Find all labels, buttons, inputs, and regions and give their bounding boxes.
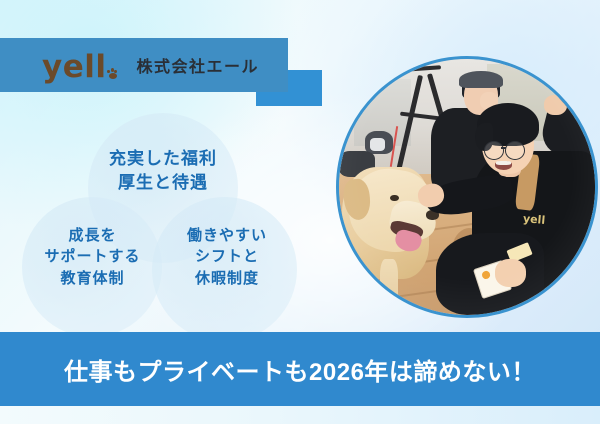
benefit-bubbles: 充実した福利 厚生と待遇 成長を サポートする 教育体制 働きやすい シフトと … [0,105,340,335]
logo-wordmark: yell [42,52,106,83]
company-name: 株式会社エール [136,53,259,77]
bubble-welfare-label: 充実した福利 厚生と待遇 [78,147,248,195]
brand-logo: yell [42,50,119,81]
bottom-banner: 仕事もプライベートも2026年は諦めない！ [0,332,600,406]
banner-headline: 仕事もプライベートも2026年は諦めない！ [64,352,536,387]
paw-print-icon [107,68,119,80]
bubble-growth-label: 成長を サポートする 教育体制 [10,225,175,289]
staff-photo: yell [336,56,598,318]
recruitment-poster: yell 株式会社エール 充実した福利 厚生と待遇 成長を サポートする 教育体… [0,0,600,424]
bottom-strip [0,406,600,424]
header-bar: yell 株式会社エール [0,38,288,92]
staff-photo-image: yell [339,59,595,315]
bubble-worklife-label: 働きやすい シフトと 休暇制度 [152,225,302,289]
